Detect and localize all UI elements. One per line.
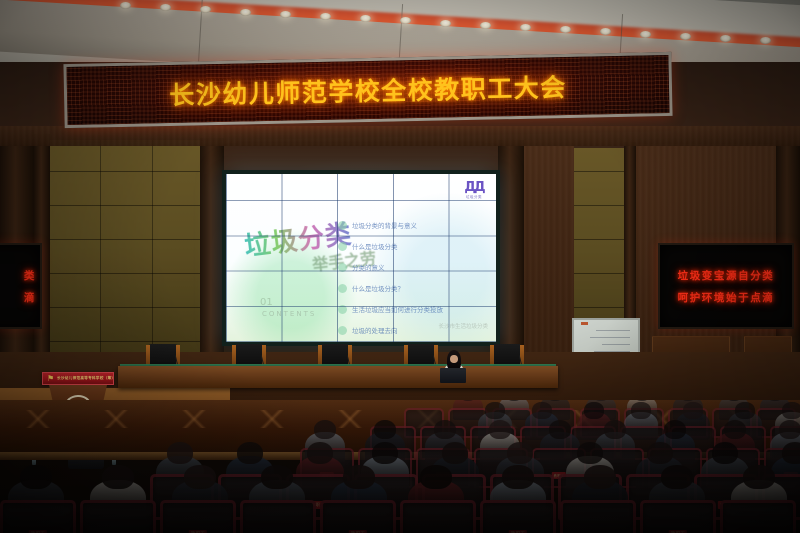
slide-bullet-label: 生活垃圾应当如何进行分类投放 <box>352 304 443 314</box>
podium-plaque: ⚑ 长沙幼儿师范高等专科学校（筹） <box>42 372 114 385</box>
audience-head <box>712 442 739 464</box>
audience-head <box>782 402 800 418</box>
audience-head <box>434 420 456 439</box>
chair-arm-left <box>490 345 494 365</box>
audience-head <box>532 402 551 418</box>
audience-head <box>184 465 215 489</box>
audience-head <box>724 420 746 439</box>
audience-head <box>661 465 692 489</box>
audience-head <box>664 420 686 439</box>
downlight <box>120 2 131 9</box>
audience-head <box>743 465 774 489</box>
chair-back <box>149 344 177 366</box>
led-left-line1: 类 <box>24 268 40 283</box>
head-table <box>118 366 558 388</box>
audience-seat: 教职工 <box>320 500 396 533</box>
audience-head <box>782 442 800 464</box>
slide-bullet-label: 什么是垃圾分类？ <box>352 283 404 293</box>
led-left-line2: 滴 <box>24 290 40 305</box>
audience-head <box>604 420 626 439</box>
slide-bullet-label: 垃圾的处理去向 <box>352 325 398 335</box>
chair-arm-left <box>318 345 322 365</box>
audience-head <box>779 420 800 439</box>
slide-logo: ДД 垃圾分类 <box>459 179 489 201</box>
chair-arm-left <box>404 345 408 365</box>
audience-head <box>343 465 374 489</box>
bullet-dot-icon <box>338 221 347 230</box>
wall-column-left-inner <box>200 138 224 388</box>
audience-head <box>489 420 511 439</box>
slide-bullet: 垃圾分类的背景与意义 <box>338 220 486 230</box>
slide-bullet-label: 分类的意义 <box>352 262 385 272</box>
audience-seat <box>400 500 476 533</box>
bullet-dot-icon <box>338 284 347 293</box>
video-wall-screen: ДД 垃圾分类 垃圾分类 举手之劳 垃圾分类的背景与意义什么是垃圾分类分类的意义… <box>222 170 500 346</box>
bullet-dot-icon <box>338 326 347 335</box>
logo-subtext: 垃圾分类 <box>466 195 482 200</box>
audience-head <box>631 402 650 418</box>
audience-head <box>735 402 754 418</box>
audience-seat <box>80 500 156 533</box>
whiteboard-line <box>602 344 630 345</box>
chair-arm-left <box>232 345 236 365</box>
led-banner: 长沙幼儿师范学校全校教职工大会 <box>63 52 672 128</box>
bullet-dot-icon <box>338 263 347 272</box>
slide-bullet: 什么是垃圾分类？ <box>338 283 486 293</box>
led-right-line2: 呵护环境始于点滴 <box>678 290 775 305</box>
audience-head <box>20 465 51 489</box>
slide-footer: 长沙市生活垃圾分类 <box>438 322 488 330</box>
audience-seat <box>560 500 636 533</box>
slide-bullet: 生活垃圾应当如何进行分类投放 <box>338 304 486 314</box>
downlight <box>440 20 451 27</box>
wall-band-upper <box>0 126 800 146</box>
whiteboard-line <box>590 337 630 338</box>
podium-emblem-icon: ⚑ <box>47 375 54 383</box>
led-display-left: 类 滴 <box>0 243 42 329</box>
audience-head <box>507 442 534 464</box>
audience-head <box>314 420 336 439</box>
wall-wood-right <box>524 140 574 388</box>
downlight <box>480 22 491 29</box>
audience-head <box>577 442 604 464</box>
audience-seat <box>240 500 316 533</box>
slide-contents-label: CONTENTS <box>262 310 316 318</box>
slide-page-number: 01 <box>260 297 273 308</box>
audience-head <box>374 420 396 439</box>
auditorium-photo: 长沙幼儿师范学校全校教职工大会 ДД 垃圾分类 垃圾分类 举手之劳 垃圾分类的背… <box>0 0 800 533</box>
chair-back <box>235 344 263 366</box>
audience-area: 教职工教职工教职工教职工教职工教职工教职工教职工教职工教职工教职工教职工教职工教… <box>0 400 800 533</box>
chair-back <box>321 344 349 366</box>
audience-seat: 教职工 <box>160 500 236 533</box>
audience-head <box>167 442 194 464</box>
chair-back <box>407 344 435 366</box>
audience-head <box>420 465 451 489</box>
slide-bullet-label: 什么是垃圾分类 <box>352 241 398 251</box>
audience-head <box>549 420 571 439</box>
downlight <box>320 13 331 20</box>
audience-head <box>102 465 133 489</box>
audience-head <box>237 442 264 464</box>
ceiling <box>0 0 800 62</box>
audience-head <box>307 442 334 464</box>
speaker-face <box>450 355 458 363</box>
presentation-slide: ДД 垃圾分类 垃圾分类 举手之劳 垃圾分类的背景与意义什么是垃圾分类分类的意义… <box>226 174 496 342</box>
audience-seat: 教职工 <box>480 500 556 533</box>
audience-head <box>485 402 504 418</box>
led-display-right: 垃圾变宝源自分类 呵护环境始于点滴 <box>658 243 794 329</box>
downlight <box>280 11 291 18</box>
audience-head <box>683 402 702 418</box>
downlight <box>520 24 531 31</box>
podium-plaque-text: 长沙幼儿师范高等专科学校（筹） <box>57 376 115 381</box>
audience-head <box>502 465 533 489</box>
bullet-dot-icon <box>338 305 347 314</box>
bullet-dot-icon <box>338 242 347 251</box>
slide-bullet: 分类的意义 <box>338 262 486 272</box>
chair-arm-left <box>146 345 150 365</box>
slide-bullet-label: 垃圾分类的背景与意义 <box>352 220 417 230</box>
downlight <box>240 9 251 16</box>
audience-head <box>442 442 469 464</box>
slide-bullet: 什么是垃圾分类 <box>338 241 486 251</box>
whiteboard-line <box>596 330 630 331</box>
downlight <box>680 33 691 40</box>
audience-seat <box>720 500 796 533</box>
audience-seat: 教职工 <box>0 500 76 533</box>
downlight <box>720 35 731 42</box>
audience-head <box>584 465 615 489</box>
audience-head <box>647 442 674 464</box>
audience-seat: 教职工 <box>640 500 716 533</box>
acoustic-panel-left <box>48 140 206 376</box>
whiteboard-marker-clip <box>581 322 588 325</box>
led-banner-text: 长沙幼儿师范学校全校教职工大会 <box>66 55 669 125</box>
chair-back <box>493 344 521 366</box>
audience-head <box>372 442 399 464</box>
audience-head <box>584 402 603 418</box>
laptop-on-table <box>440 368 466 383</box>
downlight <box>640 31 651 38</box>
logo-mark: ДД <box>464 181 483 194</box>
led-right-line1: 垃圾变宝源自分类 <box>678 268 775 283</box>
audience-head <box>261 465 292 489</box>
